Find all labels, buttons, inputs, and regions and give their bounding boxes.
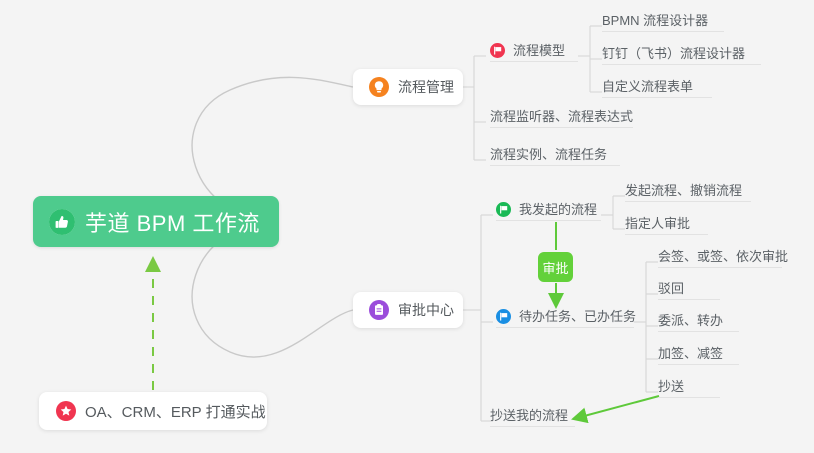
leaf-countersign[interactable]: 会签、或签、依次审批 [658, 242, 782, 268]
leaf-designated-approver[interactable]: 指定人审批 [625, 209, 708, 235]
badge-approve[interactable]: 审批 [538, 252, 573, 282]
leaf-label-delegate: 委派、转办 [658, 313, 723, 329]
branch-label-process-mgmt: 流程管理 [398, 77, 454, 97]
leaf-label-custom-form: 自定义流程表单 [602, 79, 693, 95]
branch-label-approval-center: 审批中心 [398, 300, 454, 320]
leaf-add-remove-sign[interactable]: 加签、减签 [658, 339, 739, 365]
leaf-label-process-instance: 流程实例、流程任务 [490, 147, 607, 163]
branch-node-process-mgmt[interactable]: 流程管理 [353, 69, 463, 105]
leaf-cc[interactable]: 抄送 [658, 372, 720, 398]
floating-label-oa-crm-erp: OA、CRM、ERP 打通实战 [85, 401, 266, 422]
branch-node-approval-center[interactable]: 审批中心 [353, 292, 463, 328]
leaf-cc-to-me[interactable]: 抄送我的流程 [490, 401, 575, 427]
leaf-label-process-listener: 流程监听器、流程表达式 [490, 109, 633, 125]
leaf-start-cancel[interactable]: 发起流程、撤销流程 [625, 176, 751, 202]
leaf-label-cc: 抄送 [658, 379, 684, 395]
leaf-delegate[interactable]: 委派、转办 [658, 306, 739, 332]
leaf-dingtalk-designer[interactable]: 钉钉（飞书）流程设计器 [602, 39, 761, 65]
leaf-my-started[interactable]: 我发起的流程 [496, 195, 601, 221]
leaf-label-process-model: 流程模型 [513, 43, 565, 59]
flag-icon [490, 43, 505, 58]
flag-icon [496, 202, 511, 217]
floating-node-oa-crm-erp[interactable]: OA、CRM、ERP 打通实战 [39, 392, 267, 430]
root-label: 芋道 BPM 工作流 [85, 206, 260, 238]
leaf-custom-form[interactable]: 自定义流程表单 [602, 72, 712, 98]
leaf-label-my-started: 我发起的流程 [519, 202, 597, 218]
leaf-label-countersign: 会签、或签、依次审批 [658, 249, 788, 265]
leaf-label-bpmn-designer: BPMN 流程设计器 [602, 13, 708, 29]
leaf-label-start-cancel: 发起流程、撤销流程 [625, 183, 742, 199]
star-icon [56, 401, 76, 421]
leaf-process-model[interactable]: 流程模型 [490, 36, 578, 62]
mindmap-canvas: 芋道 BPM 工作流 流程管理 审批中心 [0, 0, 814, 453]
leaf-label-todo-done: 待办任务、已办任务 [519, 309, 636, 325]
leaf-reject[interactable]: 驳回 [658, 274, 720, 300]
badge-approve-label: 审批 [542, 258, 568, 277]
root-node[interactable]: 芋道 BPM 工作流 [33, 196, 279, 247]
leaf-label-reject: 驳回 [658, 281, 684, 297]
leaf-label-cc-to-me: 抄送我的流程 [490, 408, 568, 424]
leaf-label-dingtalk-designer: 钉钉（飞书）流程设计器 [602, 46, 745, 62]
leaf-label-designated-approver: 指定人审批 [625, 216, 690, 232]
thumbs-up-icon [49, 209, 75, 235]
leaf-todo-done[interactable]: 待办任务、已办任务 [496, 302, 634, 328]
leaf-process-listener[interactable]: 流程监听器、流程表达式 [490, 102, 633, 128]
arrow-cc-to-cc-to-me [573, 396, 659, 419]
clipboard-icon [369, 300, 389, 320]
leaf-bpmn-designer[interactable]: BPMN 流程设计器 [602, 6, 724, 32]
flag-icon [496, 309, 511, 324]
leaf-process-instance[interactable]: 流程实例、流程任务 [490, 140, 620, 166]
lightbulb-icon [369, 77, 389, 97]
leaf-label-add-remove-sign: 加签、减签 [658, 346, 723, 362]
